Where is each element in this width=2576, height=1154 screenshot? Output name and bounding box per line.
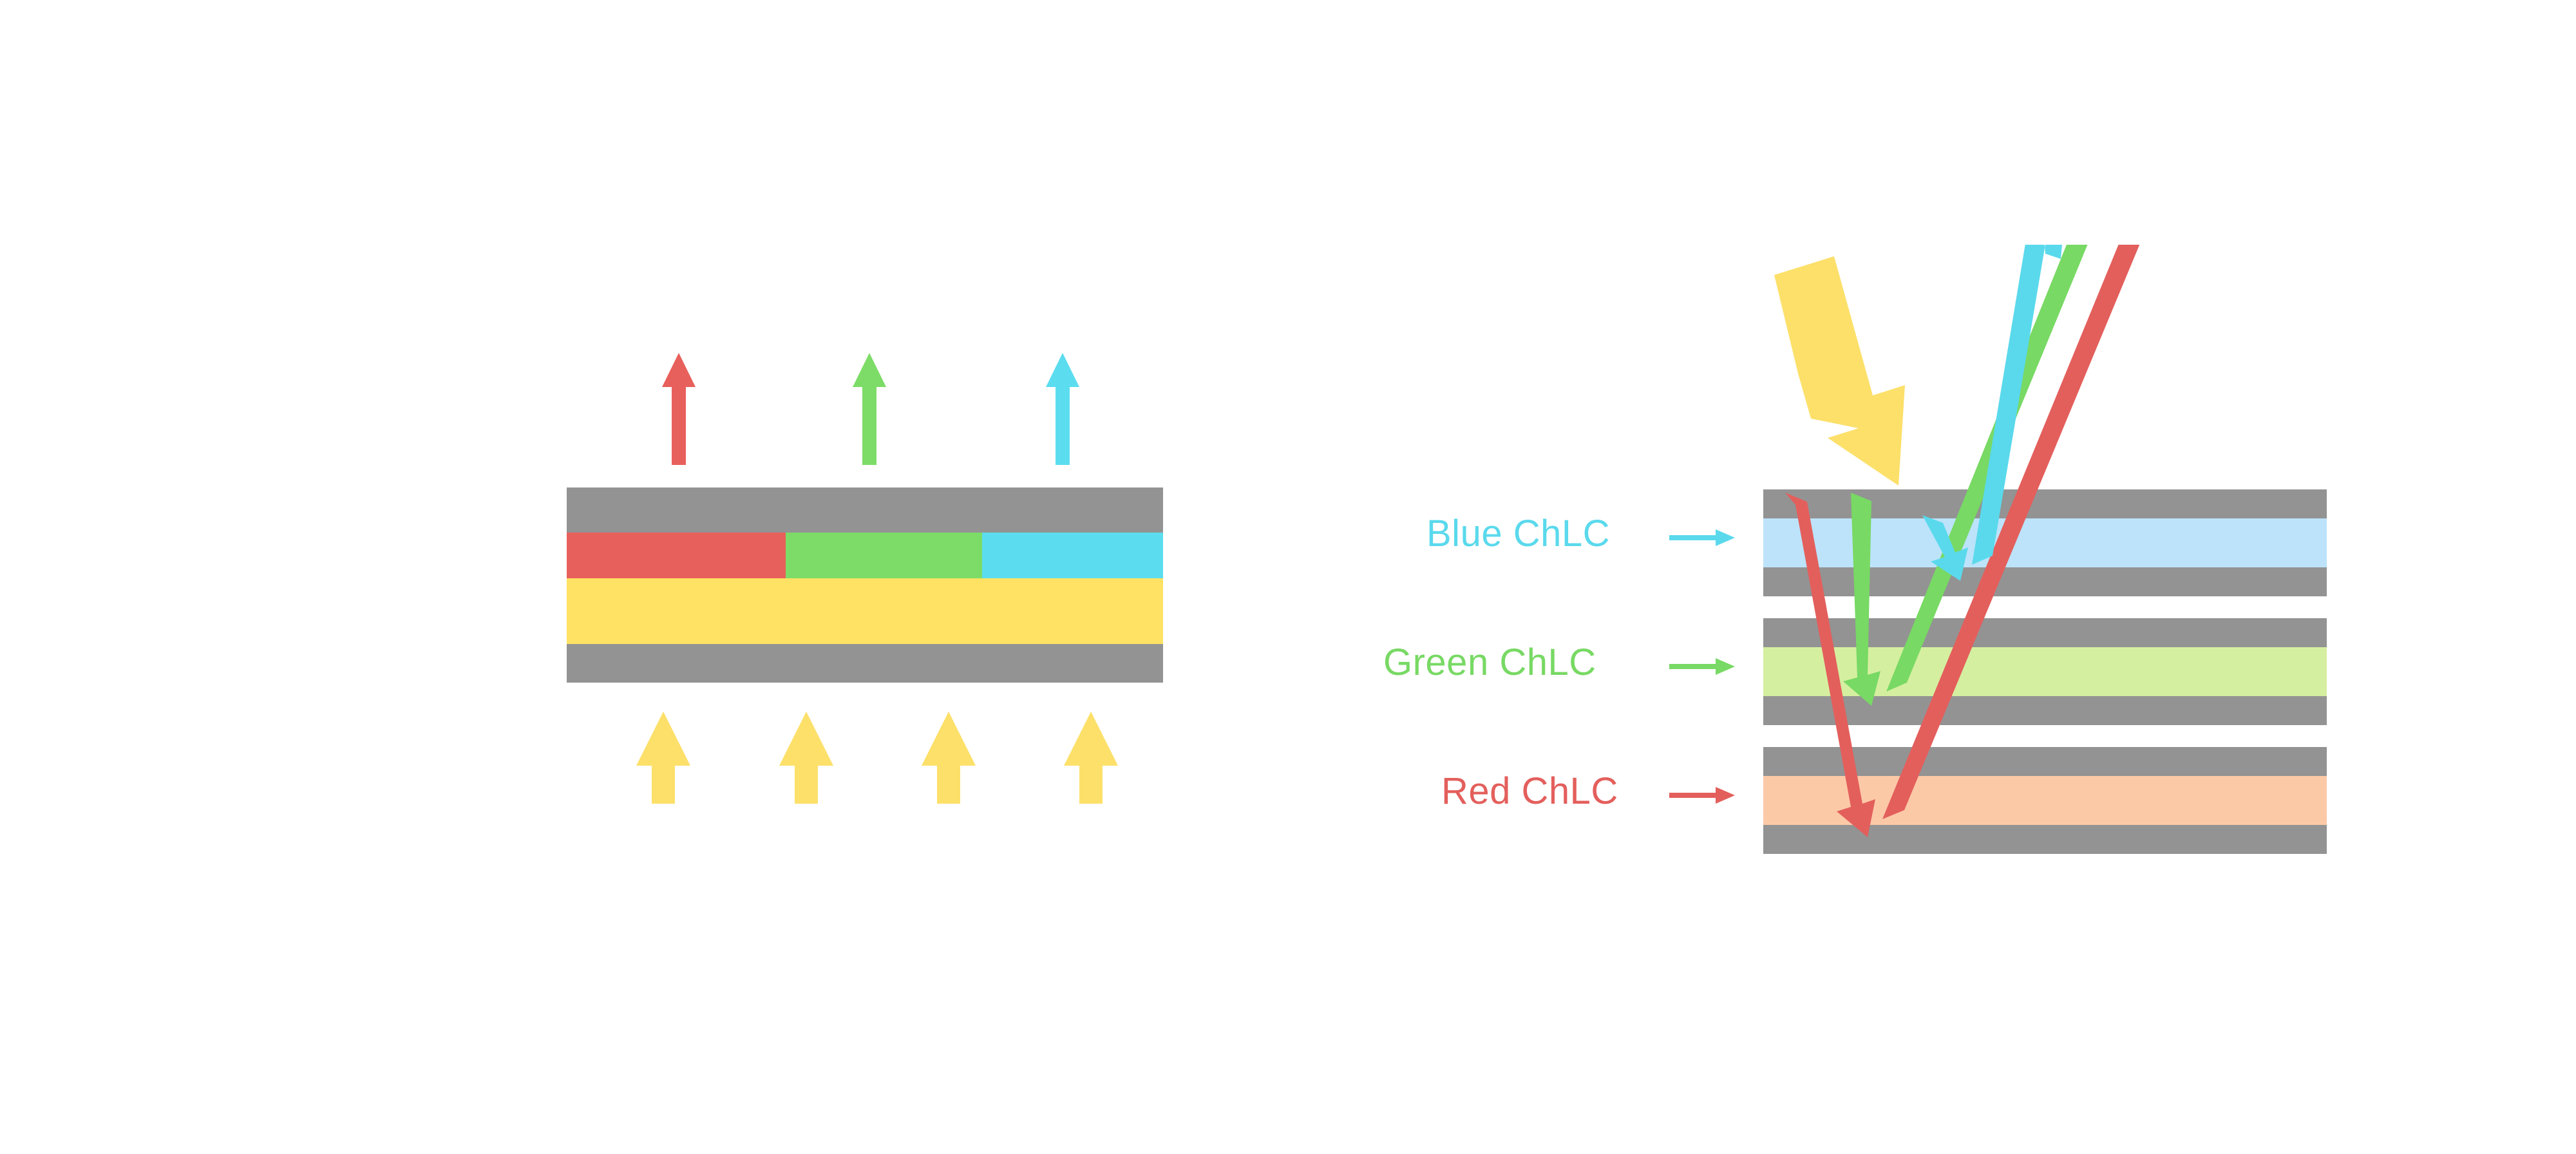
label-green-chlc: Green ChLC [1383,641,1596,684]
backlight-arrow-4 [1064,712,1118,804]
backlight-arrow-3 [922,712,976,804]
emitted-blue-arrow [1046,353,1079,465]
left-panel-transmissive-diagram [0,0,1352,902]
blue-cell-bottom-electrode [1763,567,2327,596]
left-bottom-electrode [567,644,1163,683]
blue-chlc-cell [1763,489,2327,596]
emitted-green-arrow [853,353,886,465]
figure-canvas: Blue ChLC Green ChLC Red ChLC [0,0,2576,1154]
green-chlc-cell [1763,618,2327,725]
green-filter-segment [786,533,982,578]
backlight-arrow-2 [779,712,833,804]
green-chlc-layer [1763,647,2327,696]
red-cell-bottom-electrode [1763,825,2327,854]
red-filter-segment [567,533,786,578]
blue-filter-segment [982,533,1163,578]
green-cell-bottom-electrode [1763,696,2327,725]
label-blue-chlc: Blue ChLC [1426,512,1610,555]
blue-chlc-layer [1763,518,2327,567]
backlight-layer [567,578,1163,644]
ambient-light-arrow [1774,256,1905,486]
backlight-arrow-1 [636,712,690,804]
emitted-red-arrow [662,353,696,465]
blue-cell-top-electrode [1763,489,2327,518]
label-red-chlc: Red ChLC [1441,770,1618,813]
left-top-electrode [567,487,1163,533]
label-green-chlc-arrow-icon [1669,652,1738,681]
label-red-chlc-arrow-icon [1669,780,1738,810]
label-blue-chlc-arrow-icon [1669,523,1738,553]
green-cell-top-electrode [1763,618,2327,647]
